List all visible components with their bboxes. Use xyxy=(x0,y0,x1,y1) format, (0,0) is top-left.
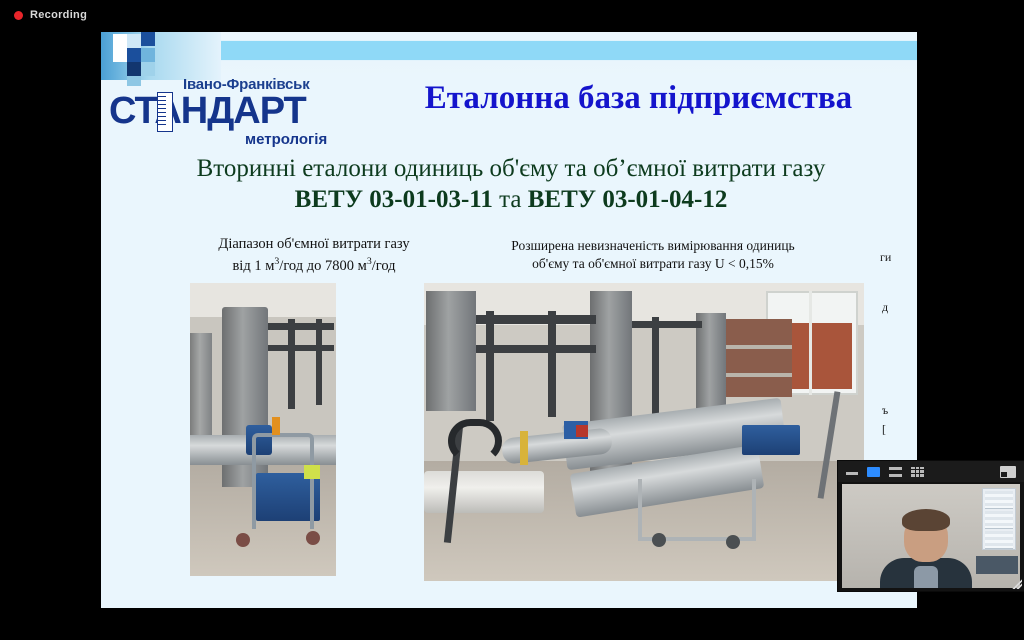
slide-top-banner xyxy=(101,32,917,80)
edge-text-fragment: д xyxy=(882,300,888,315)
slide-title: Еталонна база підприємства xyxy=(366,80,911,117)
photo-white-pipe xyxy=(424,471,544,513)
photo-cart-wheel xyxy=(236,533,250,547)
photo-label-tag xyxy=(304,465,320,479)
panel-resize-handle[interactable] xyxy=(1011,578,1022,589)
participant-video-feed[interactable] xyxy=(842,484,1020,588)
caption-left-pre: від 1 м xyxy=(232,257,274,273)
logo-mark-square xyxy=(113,48,127,62)
video-panel-toolbar xyxy=(838,461,1024,482)
photo-cart-wheel xyxy=(306,531,320,545)
standard-code-first: ВЕТУ 03-01-03-11 xyxy=(295,186,493,213)
grid-view-icon[interactable] xyxy=(911,467,924,477)
caption-left: Діапазон об'ємної витрати газу від 1 м3/… xyxy=(179,235,449,276)
caption-left-line-1: Діапазон об'ємної витрати газу xyxy=(179,235,449,255)
photo-window-mullion xyxy=(809,291,812,395)
video-background-calendar xyxy=(982,488,1016,550)
photo-shelf-plank xyxy=(726,373,792,377)
photo-pipe-run xyxy=(268,345,334,351)
photo-flowrate-standard xyxy=(424,283,864,581)
photo-pipe-vertical xyxy=(316,319,322,405)
photo-pipe-run xyxy=(632,321,702,328)
subtitle-line-2: ВЕТУ 03-01-03-11 та ВЕТУ 03-01-04-12 xyxy=(111,185,911,216)
caption-left-line-2: від 1 м3/год до 7800 м3/год xyxy=(179,255,449,276)
photo-hand-pump-loop xyxy=(448,419,502,463)
logo-mark-square xyxy=(127,34,141,48)
video-thumbnail-panel[interactable] xyxy=(838,461,1024,591)
presentation-slide: Івано-Франківськ СТАНДАРТ метрологія Ета… xyxy=(101,32,917,608)
logo-ruler-icon xyxy=(157,92,173,132)
photo-cart-handle xyxy=(252,433,314,529)
subtitle-line-1: Вторинні еталони одиниць об'єму та об’єм… xyxy=(111,154,911,185)
standard-code-conjunction: та xyxy=(493,186,528,213)
standard-code-second: ВЕТУ 03-01-04-12 xyxy=(528,186,728,213)
photo-vertical-tank xyxy=(426,291,476,411)
photo-shelf-plank xyxy=(726,345,792,349)
photo-pipe-vertical xyxy=(288,319,295,409)
photo-pipe-vertical xyxy=(548,311,556,417)
recording-label: Recording xyxy=(30,9,87,21)
edge-text-fragment: ги xyxy=(880,250,891,265)
photo-pipe-vertical xyxy=(652,317,659,417)
photo-support-frame xyxy=(638,479,756,541)
logo-name-label: СТАНДАРТ xyxy=(109,90,306,133)
photo-pipe-run xyxy=(476,315,596,324)
video-background-desk xyxy=(976,556,1018,574)
photo-support-wheel xyxy=(652,533,666,547)
edge-text-fragment: ъ xyxy=(882,403,888,418)
photo-shelving xyxy=(726,319,792,397)
speaker-view-icon[interactable] xyxy=(867,467,880,477)
logo-mark-square xyxy=(141,32,155,46)
minimize-icon[interactable] xyxy=(846,468,858,475)
logo-mark-square xyxy=(113,34,127,48)
participant-shirt xyxy=(914,566,938,588)
photo-pipe-run xyxy=(476,345,596,353)
caption-right-line-1: Розширена невизначеність вимірювання оди… xyxy=(453,237,853,255)
photo-yellow-pipe xyxy=(520,431,528,465)
logo-mark-square xyxy=(127,48,141,62)
photo-blue-equipment xyxy=(742,425,800,455)
edge-text-fragment: [ xyxy=(882,422,886,437)
photo-pipe-run xyxy=(268,323,334,330)
caption-left-mid: /год до 7800 м xyxy=(279,257,367,273)
slide-subtitle: Вторинні еталони одиниць об'єму та об’єм… xyxy=(111,154,911,215)
view-mode-icon[interactable] xyxy=(1000,466,1016,478)
caption-right-line-2: об'єму та об'ємної витрати газу U < 0,15… xyxy=(453,255,853,273)
logo-subtitle-label: метрологія xyxy=(245,131,327,148)
photo-pipe-vertical xyxy=(486,311,494,421)
participant-hair xyxy=(902,509,950,531)
strip-view-icon[interactable] xyxy=(889,467,902,477)
photo-volume-standard xyxy=(190,283,336,576)
logo-mark-square xyxy=(141,48,155,62)
photo-support-wheel xyxy=(726,535,740,549)
caption-right: Розширена невизначеність вимірювання оди… xyxy=(453,237,853,273)
caption-left-post: /год xyxy=(372,257,396,273)
recording-dot-icon xyxy=(14,11,23,20)
photo-red-cap xyxy=(576,425,588,437)
recording-indicator-bar: Recording xyxy=(0,0,1024,30)
photo-orange-handle xyxy=(272,417,280,435)
